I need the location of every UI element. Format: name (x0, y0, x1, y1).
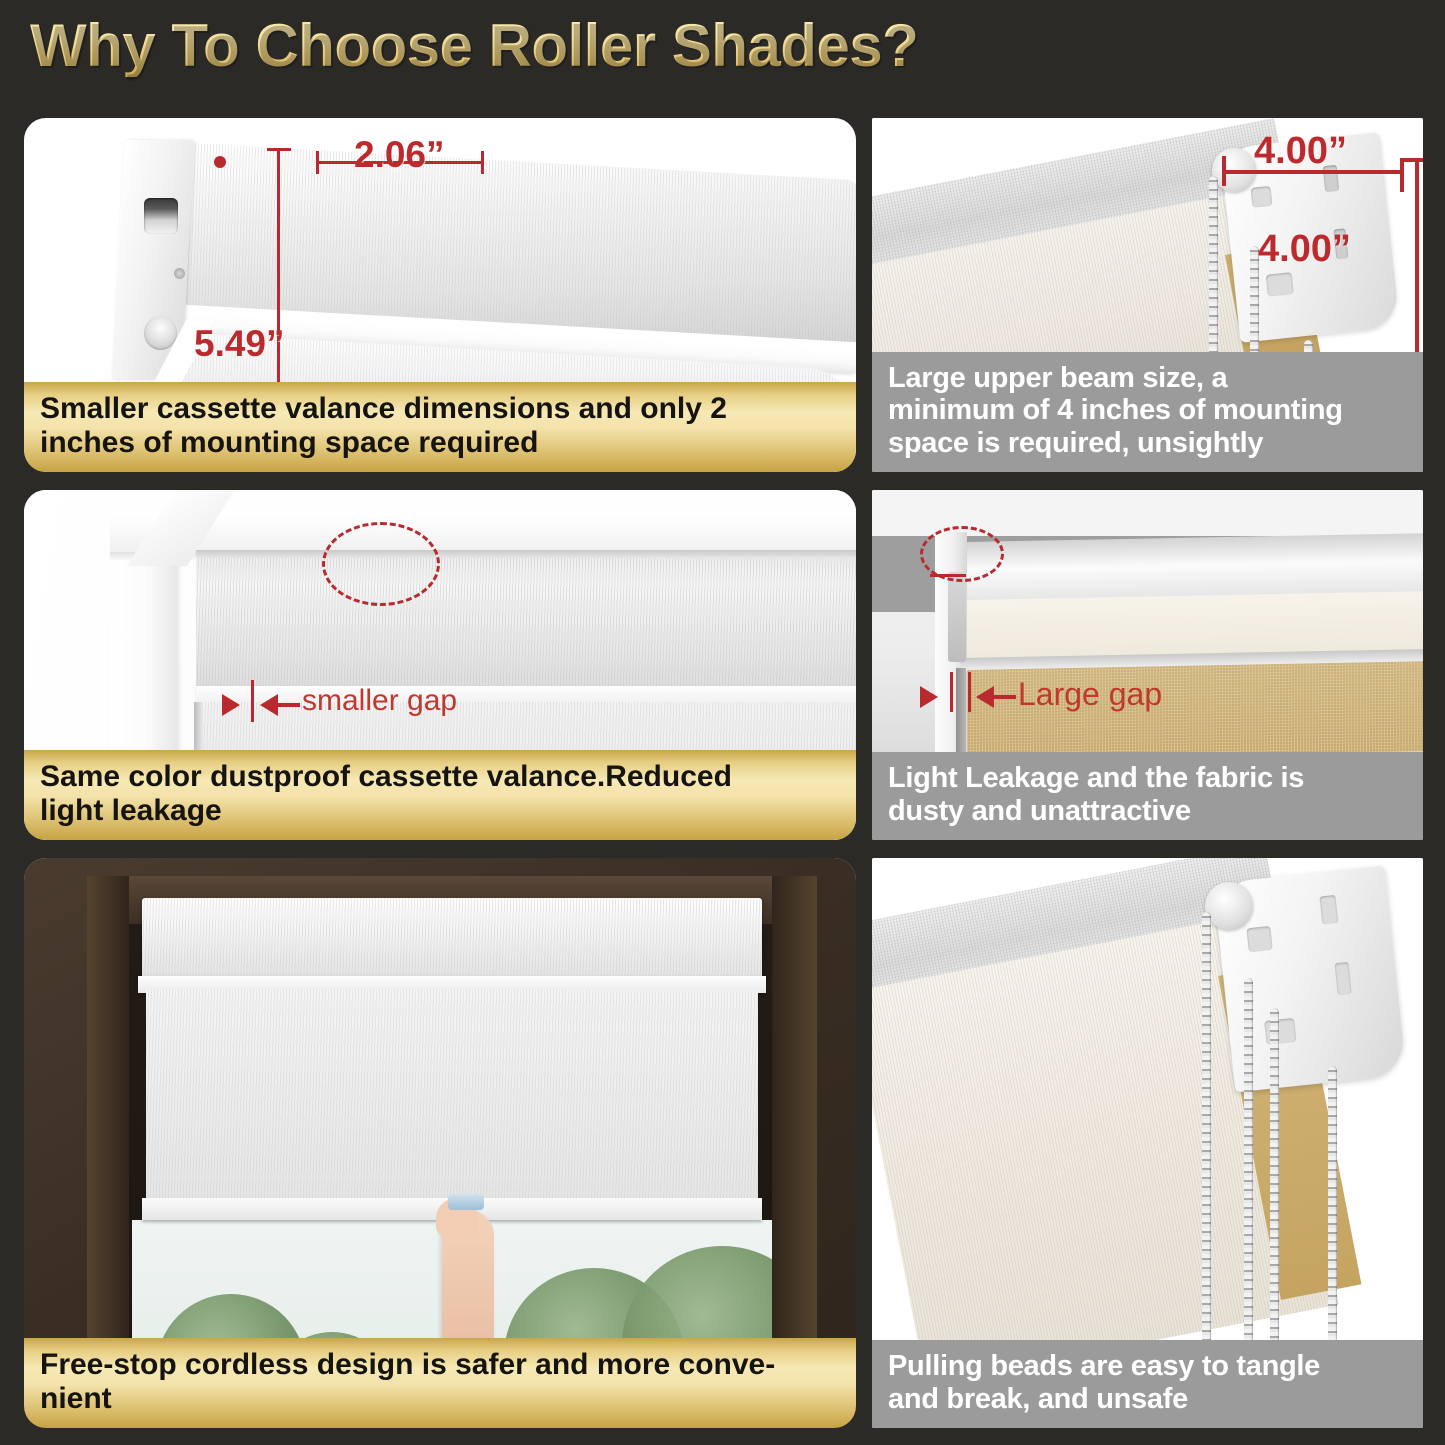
bracket-icon-tab (1266, 272, 1294, 297)
gap-callout-label: Large gap (1018, 676, 1162, 713)
caption-line: dusty and unattractive (888, 795, 1409, 828)
highlight-tick (930, 574, 966, 577)
gap-tick (968, 672, 971, 712)
height-dimension-label: 4.00” (1258, 228, 1351, 271)
panel-6-caption: Pulling beads are easy to tangle and bre… (872, 1340, 1423, 1428)
bracket-icon-tab (1246, 926, 1272, 952)
comparison-grid: 5.49” 2.06” Smaller cassette valance dim… (0, 0, 1445, 1445)
depth-dimension-cap-left (316, 151, 319, 174)
panel-5-caption: Free-stop cordless design is safer and m… (24, 1338, 856, 1428)
bracket-slot-upper (144, 198, 178, 234)
bead-chain[interactable] (1328, 1066, 1337, 1356)
gap-callout-label: smaller gap (302, 684, 457, 718)
caption-line: and break, and unsafe (888, 1383, 1409, 1416)
panel-1-caption: Smaller cassette valance dimensions and … (24, 382, 856, 472)
gap-tick (251, 680, 254, 722)
bracket-slot-lower (144, 316, 177, 350)
gap-arrow-stem (278, 703, 300, 707)
depth-dimension-cap-right (481, 151, 484, 174)
bracket-icon-tab (1250, 186, 1272, 208)
gap-arrow-left-icon (260, 694, 278, 716)
panel-light-leakage: Large gap Light Leakage and the fabric i… (872, 490, 1423, 840)
caption-line: Light Leakage and the fabric is (888, 762, 1409, 795)
bracket-slot (1319, 895, 1338, 925)
hand (442, 1210, 494, 1350)
panel-dustproof-cassette-valance: smaller gap Same color dustproof cassett… (24, 490, 856, 840)
panel-free-stop-cordless: Free-stop cordless design is safer and m… (24, 858, 856, 1428)
gap-arrow-left-icon (976, 686, 994, 708)
depth-dimension-anchor-dot (214, 156, 226, 168)
caption-line: Same color dustproof cassette valance.Re… (40, 760, 842, 794)
caption-line: Smaller cassette valance dimensions and … (40, 392, 842, 426)
panel-3-caption: Same color dustproof cassette valance.Re… (24, 750, 856, 840)
caption-line: space is required, unsightly (888, 427, 1409, 460)
mounting-clip (948, 572, 966, 662)
caption-line: nient (40, 1382, 842, 1416)
gap-arrow-right-icon (920, 686, 938, 708)
gap-arrow-stem (994, 695, 1016, 699)
bead-chain[interactable] (1202, 912, 1211, 1352)
caption-line: Free-stop cordless design is safer and m… (40, 1348, 842, 1382)
caption-line: light leakage (40, 794, 842, 828)
shade-fabric (146, 990, 758, 1200)
cassette-valance (142, 898, 762, 982)
valance-top-profile (172, 142, 856, 343)
bead-chain[interactable] (1270, 1008, 1279, 1358)
panel-pulling-beads: Pulling beads are easy to tangle and bre… (872, 858, 1423, 1428)
bracket-slot (1334, 962, 1351, 995)
panel-smaller-cassette-valance: 5.49” 2.06” Smaller cassette valance dim… (24, 118, 856, 472)
width-dimension-label: 4.00” (1254, 130, 1347, 173)
roller-end-cap (1205, 882, 1253, 930)
height-dimension-cap-top (1400, 158, 1423, 162)
width-dimension-cap-left (1222, 156, 1226, 186)
gap-arrow-right-icon (222, 694, 240, 716)
caption-line: minimum of 4 inches of mounting (888, 394, 1409, 427)
light-gap-column (956, 668, 966, 760)
caption-line: Pulling beads are easy to tangle (888, 1350, 1409, 1383)
caption-line: Large upper beam size, a (888, 362, 1409, 395)
bracket-icon-tab (1264, 1018, 1296, 1045)
panel-2-caption: Large upper beam size, a minimum of 4 in… (872, 352, 1423, 472)
cassette-valance (196, 558, 856, 688)
height-dimension-cap-top (267, 148, 291, 151)
bead-chain[interactable] (1244, 978, 1253, 1358)
depth-dimension-label: 2.06” (354, 134, 445, 176)
bracket-screw (174, 268, 185, 279)
gap-tick (950, 672, 953, 712)
panel-large-upper-beam: 4.00” 4.00” Large upper beam size, a min… (872, 118, 1423, 472)
pull-grip[interactable] (448, 1194, 484, 1210)
panel-4-caption: Light Leakage and the fabric is dusty an… (872, 752, 1423, 840)
caption-line: inches of mounting space required (40, 426, 842, 460)
height-dimension-label: 5.49” (194, 323, 285, 365)
width-dimension-cap-right (1400, 160, 1404, 192)
highlight-ellipse-icon (322, 522, 440, 606)
